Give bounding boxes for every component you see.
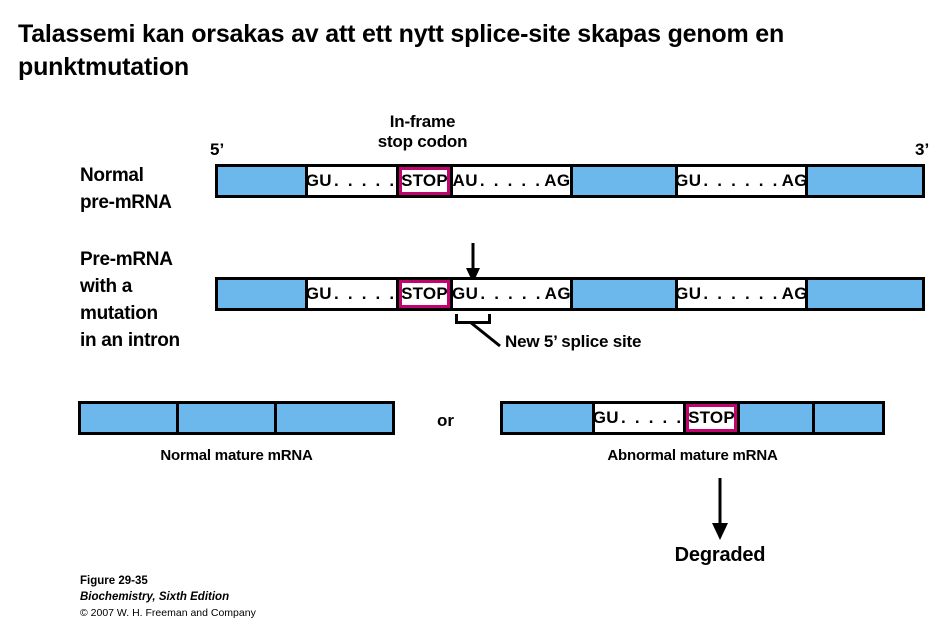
normal-mature-mrna-bar: [78, 401, 395, 435]
abnormal-mature-mrna-bar: GU . . . . . STOP: [500, 401, 885, 435]
in-frame-line-2: stop codon: [360, 132, 485, 152]
normal-pre-mrna-bar: GU . . . . . STOP AU . . . . . AG GU . .…: [215, 164, 925, 198]
exon-segment: [81, 404, 179, 432]
figure-book-title: Biochemistry, Sixth Edition: [80, 590, 256, 606]
intron-prefix: GU: [678, 171, 701, 191]
intron-segment-gu: GU . . . . .: [308, 167, 396, 195]
five-prime-label: 5’: [210, 140, 224, 160]
intron-segment-gu: GU . . . . .: [595, 404, 683, 432]
intron-dots: . . . . .: [478, 171, 544, 191]
stop-codon-label: STOP: [402, 283, 447, 305]
stop-codon-label: STOP: [689, 407, 734, 429]
three-prime-label: 3’: [915, 140, 929, 160]
exon-segment: [218, 167, 308, 195]
intron-dots: . . . . .: [332, 171, 396, 191]
intron-suffix: AG: [782, 171, 808, 191]
mutant-pre-mrna-bar: GU . . . . . STOP GU . . . . . AG GU . .…: [215, 277, 925, 311]
page-title: Talassemi kan orsakas av att ett nytt sp…: [18, 18, 918, 84]
exon-segment: [808, 280, 922, 308]
intron-segment-gu-ag: GU . . . . . . AG: [678, 280, 808, 308]
intron-prefix: GU: [308, 284, 332, 304]
row-label-line: in an intron: [80, 328, 230, 355]
or-label: or: [437, 411, 454, 431]
stop-codon-box: STOP: [683, 404, 740, 432]
in-frame-line-1: In-frame: [360, 112, 485, 132]
row-label-mutant-pre-mrna: Pre-mRNA with a mutation in an intron: [80, 247, 230, 355]
exon-segment: [277, 404, 392, 432]
intron-suffix: AG: [782, 284, 808, 304]
row-label-line: Pre-mRNA: [80, 247, 230, 274]
new-splice-site-label: New 5’ splice site: [505, 332, 641, 352]
degraded-label: Degraded: [630, 543, 810, 567]
exon-segment: [503, 404, 595, 432]
stop-codon-box: STOP: [396, 167, 453, 195]
intron-dots: . . . . .: [619, 408, 683, 428]
exon-segment: [808, 167, 922, 195]
row-label-normal-pre-mrna: Normal pre-mRNA: [80, 163, 215, 217]
intron-prefix: GU: [595, 408, 619, 428]
intron-segment-gu-ag: GU . . . . . . AG: [678, 167, 808, 195]
row-label-line: Normal: [80, 163, 215, 190]
in-frame-stop-codon-annotation: In-frame stop codon: [360, 112, 485, 153]
intron-segment-new-gu-ag: GU . . . . . AG: [453, 280, 573, 308]
intron-dots: . . . . . .: [701, 171, 781, 191]
intron-dots: . . . . .: [332, 284, 396, 304]
row-label-line: mutation: [80, 301, 230, 328]
intron-prefix: GU: [678, 284, 701, 304]
intron-dots: . . . . .: [478, 284, 544, 304]
stop-codon-label: STOP: [402, 170, 447, 192]
degradation-arrow-icon: [705, 478, 735, 540]
exon-segment: [179, 404, 277, 432]
figure-copyright: © 2007 W. H. Freeman and Company: [80, 606, 256, 620]
row-label-line: with a: [80, 274, 230, 301]
stop-codon-box: STOP: [396, 280, 453, 308]
exon-segment: [218, 280, 308, 308]
abnormal-mature-mrna-caption: Abnormal mature mRNA: [500, 447, 885, 464]
exon-segment: [815, 404, 882, 432]
intron-prefix: AU: [453, 171, 478, 191]
figure-number: Figure 29-35: [80, 574, 256, 590]
exon-segment: [573, 280, 678, 308]
intron-suffix: AG: [545, 284, 571, 304]
intron-prefix: GU: [308, 171, 332, 191]
intron-segment-gu: GU . . . . .: [308, 280, 396, 308]
intron-dots: . . . . . .: [701, 284, 781, 304]
exon-segment: [740, 404, 815, 432]
normal-mature-mrna-caption: Normal mature mRNA: [78, 447, 395, 464]
new-splice-site-leader-line: [470, 322, 510, 350]
exon-segment: [573, 167, 678, 195]
intron-prefix: GU: [453, 284, 478, 304]
figure-credit: Figure 29-35 Biochemistry, Sixth Edition…: [80, 574, 256, 620]
intron-suffix: AG: [544, 171, 570, 191]
row-label-line: pre-mRNA: [80, 190, 215, 217]
intron-segment-au-ag: AU . . . . . AG: [453, 167, 573, 195]
